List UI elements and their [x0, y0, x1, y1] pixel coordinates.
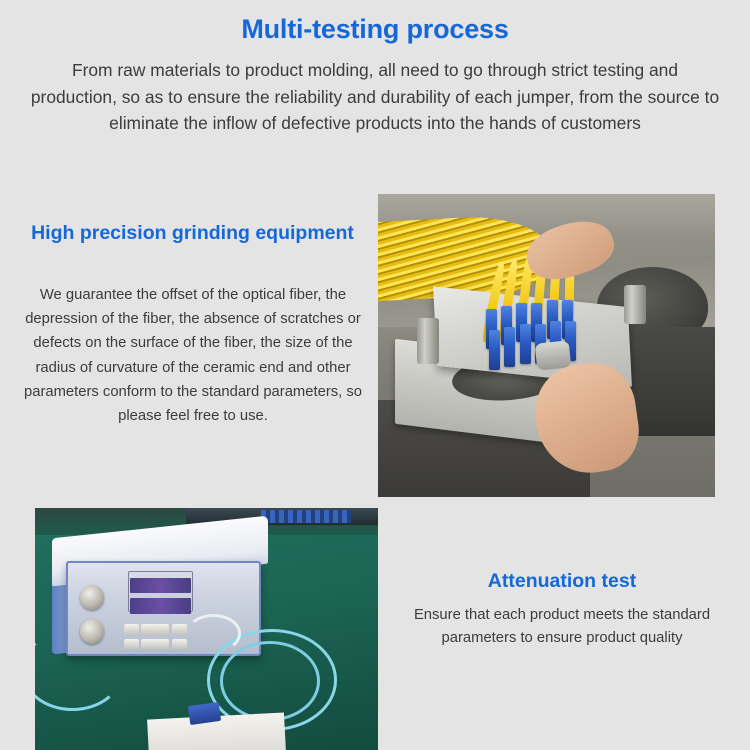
promo-page: Multi-testing process From raw materials…	[0, 0, 750, 750]
section-title-grinding: High precision grinding equipment	[20, 220, 365, 247]
panel-button	[141, 639, 155, 649]
fixture-clamp-post	[624, 285, 646, 324]
section-body-attenuation: Ensure that each product meets the stand…	[386, 604, 738, 650]
fixture-clamp-post	[417, 318, 439, 363]
fiber-polishing-machine-photo	[378, 194, 715, 497]
instrument-display	[128, 571, 193, 612]
white-test-lead	[186, 614, 241, 653]
panel-button	[124, 639, 138, 649]
panel-button	[141, 624, 155, 634]
section-body-grinding: We guarantee the offset of the optical f…	[12, 283, 374, 428]
panel-button	[172, 624, 186, 634]
panel-button	[155, 624, 169, 634]
display-reading-row-2	[130, 598, 191, 614]
aqua-patch-cord	[220, 641, 319, 721]
panel-button	[155, 639, 169, 649]
sc-connector-blue	[520, 324, 531, 363]
page-title: Multi-testing process	[0, 14, 750, 45]
background-connectors	[261, 510, 350, 522]
page-intro-paragraph: From raw materials to product molding, a…	[28, 57, 722, 137]
optical-port-connector	[80, 585, 104, 609]
sc-connector-blue	[504, 327, 515, 366]
display-reading-row-1	[130, 578, 191, 594]
section-title-attenuation: Attenuation test	[392, 570, 732, 593]
panel-button	[124, 624, 138, 634]
sc-connector-blue	[489, 330, 500, 369]
optical-power-meter-photo	[35, 508, 378, 750]
panel-button	[172, 639, 186, 649]
